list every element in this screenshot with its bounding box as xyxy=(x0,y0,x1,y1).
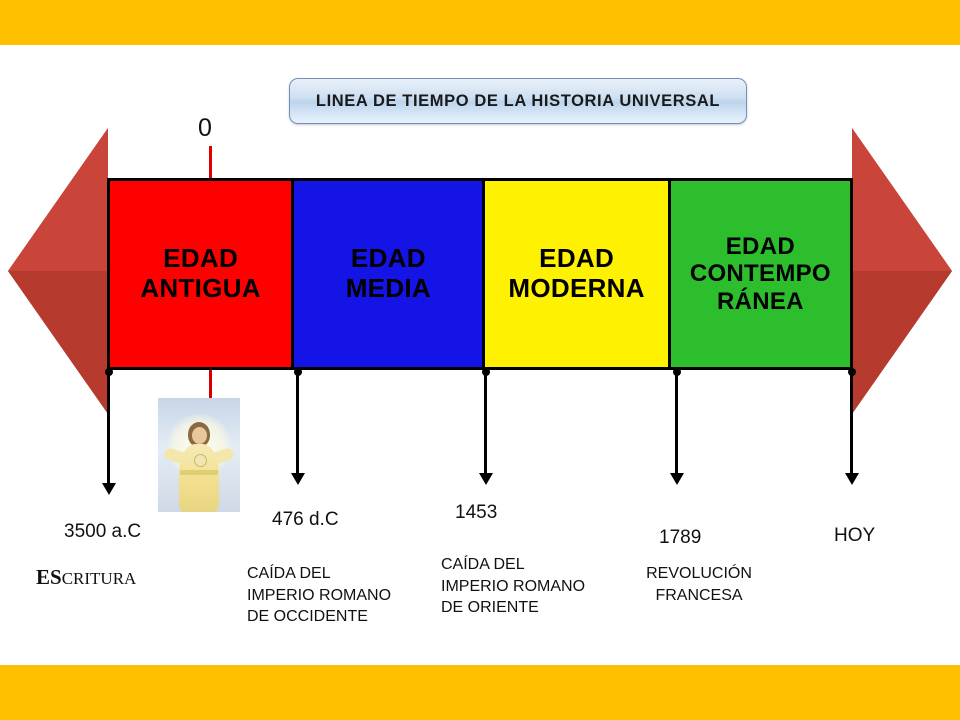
christ-child-image xyxy=(158,398,240,512)
era-label-line1: EDAD xyxy=(539,243,614,273)
past-arrow-icon xyxy=(8,128,108,414)
event-tick-1453 xyxy=(484,372,487,474)
era-segment-edad-contemporanea[interactable]: EDAD CONTEMPO RÁNEA xyxy=(668,178,853,370)
era-label-line3: RÁNEA xyxy=(717,288,804,315)
title-plate: LINEA DE TIEMPO DE LA HISTORIA UNIVERSAL xyxy=(289,78,747,124)
era-label-line2: ANTIGUA xyxy=(140,273,261,303)
event-year-1789: 1789 xyxy=(659,527,701,549)
event-desc-caida-oriente: CAÍDA DEL IMPERIO ROMANO DE ORIENTE xyxy=(441,554,591,619)
page-title: LINEA DE TIEMPO DE LA HISTORIA UNIVERSAL xyxy=(316,92,720,111)
era-segment-edad-media[interactable]: EDAD MEDIA xyxy=(291,178,485,370)
top-gold-band xyxy=(0,0,960,45)
event-desc-escritura: ESCRITURA xyxy=(36,563,136,592)
origin-zero-label: 0 xyxy=(198,116,212,141)
event-year-3500ac: 3500 a.C xyxy=(64,521,141,543)
event-tick-3500ac xyxy=(107,372,110,484)
future-arrow-icon xyxy=(852,128,952,414)
event-desc-escritura-strong: ES xyxy=(36,565,62,589)
era-label-line1: EDAD xyxy=(351,243,426,273)
era-label-line2: CONTEMPO xyxy=(690,260,831,287)
event-year-hoy: HOY xyxy=(834,525,875,547)
event-year-1453: 1453 xyxy=(455,502,497,524)
event-desc-revolucion-francesa: REVOLUCIÓN FRANCESA xyxy=(619,563,779,606)
era-label-edad-contemporanea: EDAD CONTEMPO RÁNEA xyxy=(690,233,831,315)
timeline-slide: LINEA DE TIEMPO DE LA HISTORIA UNIVERSAL… xyxy=(0,0,960,720)
era-label-edad-media: EDAD MEDIA xyxy=(346,244,431,303)
heart-emblem xyxy=(194,454,207,467)
era-label-line1: EDAD xyxy=(726,233,795,260)
origin-tick-upper xyxy=(209,146,212,179)
face xyxy=(192,427,207,444)
era-segment-edad-moderna[interactable]: EDAD MODERNA xyxy=(482,178,670,370)
sash xyxy=(180,470,218,475)
event-tick-hoy xyxy=(850,372,853,474)
era-bar: EDAD ANTIGUA EDAD MEDIA EDAD MODERNA EDA… xyxy=(107,178,853,370)
event-desc-escritura-rest: CRITURA xyxy=(62,569,137,588)
era-segment-edad-antigua[interactable]: EDAD ANTIGUA xyxy=(107,178,294,370)
event-year-476dc: 476 d.C xyxy=(272,509,339,531)
bottom-gold-band xyxy=(0,665,960,720)
era-label-edad-antigua: EDAD ANTIGUA xyxy=(140,244,261,303)
event-desc-caida-occidente: CAÍDA DEL IMPERIO ROMANO DE OCCIDENTE xyxy=(247,563,397,628)
era-label-edad-moderna: EDAD MODERNA xyxy=(508,244,644,303)
era-label-line1: EDAD xyxy=(163,243,238,273)
event-tick-1789 xyxy=(675,372,678,474)
era-label-line2: MEDIA xyxy=(346,273,431,303)
event-tick-476dc xyxy=(296,372,299,474)
era-label-line2: MODERNA xyxy=(508,273,644,303)
